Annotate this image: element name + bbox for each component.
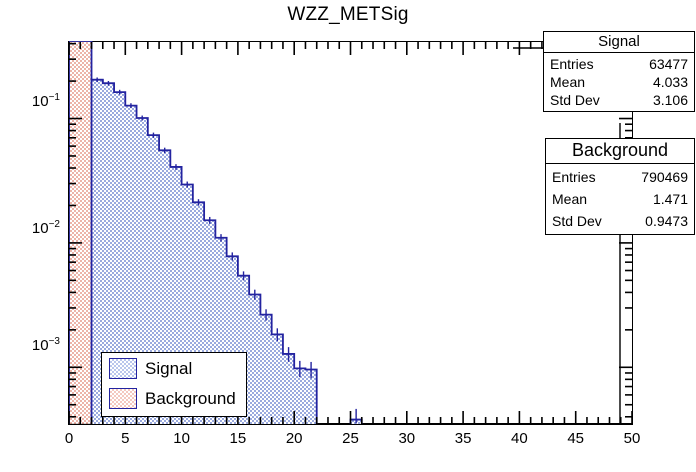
- legend-label-signal: Signal: [145, 359, 192, 379]
- stat-value-stddev: 3.106: [653, 91, 688, 109]
- x-tick-label-35: 35: [443, 430, 483, 447]
- stat-row-mean: Mean 1.471: [552, 188, 688, 210]
- stat-box-signal[interactable]: Signal Entries 63477 Mean 4.033 Std Dev …: [543, 31, 695, 112]
- stat-key-stddev: Std Dev: [550, 91, 600, 109]
- legend-label-background: Background: [145, 389, 236, 409]
- stat-key-mean: Mean: [550, 73, 585, 91]
- root-canvas: WZZ_METSig: [0, 0, 696, 472]
- stat-value-entries: 63477: [649, 55, 688, 73]
- x-tick-label-0: 0: [49, 430, 89, 447]
- y-tick-label-1e-3: 10−3: [18, 336, 60, 354]
- legend-entry-signal[interactable]: Signal: [109, 358, 192, 379]
- y-tick-label-1e-2: 10−2: [18, 219, 60, 237]
- x-tick-label-20: 20: [274, 430, 314, 447]
- x-tick-label-40: 40: [499, 430, 539, 447]
- x-tick-label-10: 10: [162, 430, 202, 447]
- x-tick-label-45: 45: [556, 430, 596, 447]
- legend-swatch-signal: [109, 358, 137, 379]
- y-tick-label-1e-1: 10−1: [18, 92, 60, 110]
- stat-box-background[interactable]: Background Entries 790469 Mean 1.471 Std…: [545, 138, 695, 235]
- stat-value-mean: 4.033: [653, 73, 688, 91]
- x-tick-label-50: 50: [612, 430, 652, 447]
- stat-box-signal-title: Signal: [544, 32, 694, 53]
- legend-swatch-background: [109, 388, 137, 409]
- x-tick-label-25: 25: [331, 430, 371, 447]
- x-tick-label-15: 15: [218, 430, 258, 447]
- stat-row-entries: Entries 63477: [550, 55, 688, 73]
- stat-box-background-title: Background: [546, 139, 694, 164]
- stat-row-mean: Mean 4.033: [550, 73, 688, 91]
- x-tick-label-30: 30: [387, 430, 427, 447]
- stat-key-stddev: Std Dev: [552, 210, 602, 232]
- stat-value-mean: 1.471: [653, 188, 688, 210]
- stat-key-mean: Mean: [552, 188, 587, 210]
- stat-row-stddev: Std Dev 0.9473: [552, 210, 688, 232]
- legend[interactable]: Signal Background: [101, 352, 247, 417]
- x-tick-label-5: 5: [105, 430, 145, 447]
- legend-entry-background[interactable]: Background: [109, 388, 236, 409]
- stat-key-entries: Entries: [552, 166, 596, 188]
- stat-row-entries: Entries 790469: [552, 166, 688, 188]
- stat-value-stddev: 0.9473: [645, 210, 688, 232]
- stat-value-entries: 790469: [641, 166, 688, 188]
- stat-key-entries: Entries: [550, 55, 594, 73]
- stat-row-stddev: Std Dev 3.106: [550, 91, 688, 109]
